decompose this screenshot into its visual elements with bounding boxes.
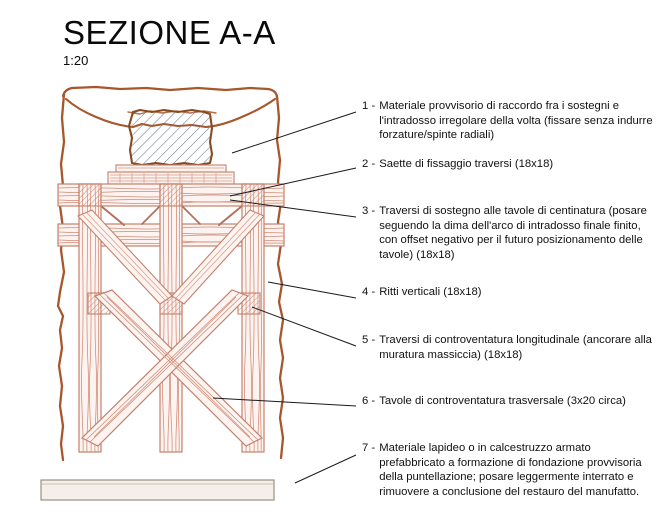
crosshead-beam	[108, 165, 234, 184]
legend-text-1: Materiale provvisorio di raccordo fra i …	[379, 99, 659, 143]
masonry-wall-right	[277, 96, 283, 458]
leader-line-7	[295, 455, 356, 483]
vertical-post-center	[160, 184, 182, 452]
legend-number-1: 1 -	[362, 99, 379, 114]
saetta-brace-center-right	[182, 206, 200, 224]
legend-number-3: 3 -	[362, 204, 379, 219]
packing-block-hatched	[129, 110, 212, 165]
legend-item-7: 7 - Materiale lapideo o in calcestruzzo …	[362, 441, 659, 499]
legend-item-3: 3 - Traversi di sostegno alle tavole di …	[362, 204, 659, 262]
legend-item-1: 1 - Materiale provvisorio di raccordo fr…	[362, 99, 659, 143]
legend-number-7: 7 -	[362, 441, 379, 456]
leader-line-2	[230, 168, 356, 196]
legend-text-3: Traversi di sostegno alle tavole di cent…	[379, 204, 659, 262]
legend-text-2: Saette di fissaggio traversi (18x18)	[379, 157, 659, 172]
leader-line-6	[213, 398, 356, 406]
legend-number-5: 5 -	[362, 333, 379, 348]
legend-item-4: 4 - Ritti verticali (18x18)	[362, 285, 659, 300]
foundation-slab	[41, 480, 274, 500]
leader-line-5	[252, 307, 356, 346]
legend-text-4: Ritti verticali (18x18)	[379, 285, 659, 300]
legend-number-2: 2 -	[362, 157, 379, 172]
legend-text-6: Tavole di controventatura trasversale (3…	[379, 394, 659, 409]
saetta-brace-left	[101, 206, 124, 225]
legend-number-6: 6 -	[362, 394, 379, 409]
vault-intrados-outline	[63, 87, 277, 98]
legend-item-6: 6 - Tavole di controventatura trasversal…	[362, 394, 659, 409]
joint-block-upper-left	[79, 184, 101, 206]
legend-item-2: 2 - Saette di fissaggio traversi (18x18)	[362, 157, 659, 172]
joint-block-upper-center	[160, 184, 182, 206]
saetta-brace-center-left	[142, 206, 160, 224]
technical-drawing-page: SEZIONE A-A 1:20	[0, 0, 662, 530]
masonry-wall-left	[58, 94, 64, 460]
leader-line-1	[232, 112, 356, 153]
legend-text-7: Materiale lapideo o in calcestruzzo arma…	[379, 441, 659, 499]
legend-text-5: Traversi di controventatura longitudinal…	[379, 333, 659, 362]
legend-number-4: 4 -	[362, 285, 379, 300]
section-drawing	[0, 0, 400, 530]
legend-item-5: 5 - Traversi di controventatura longitud…	[362, 333, 659, 362]
